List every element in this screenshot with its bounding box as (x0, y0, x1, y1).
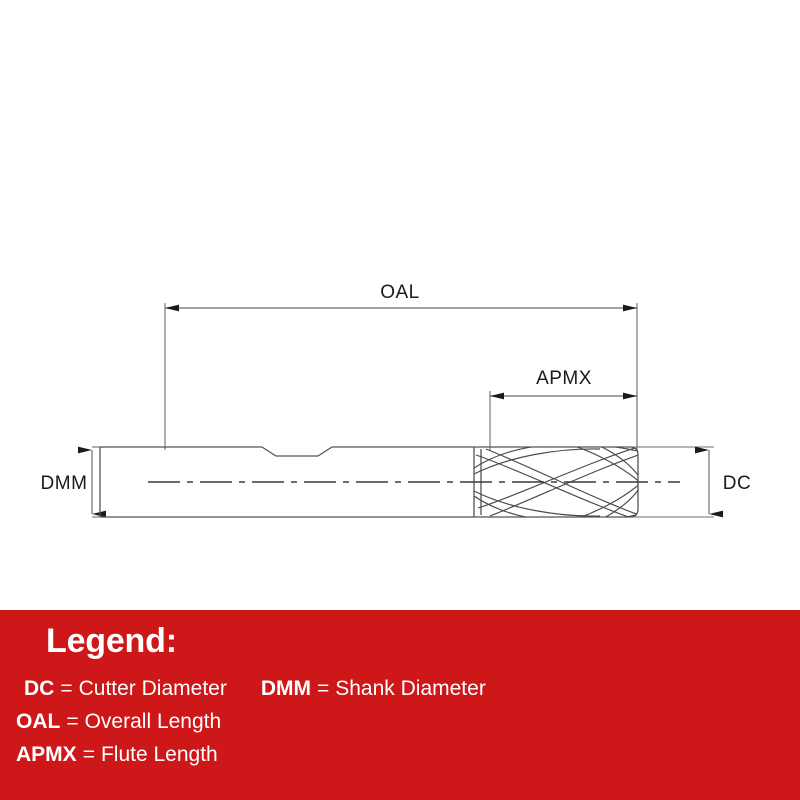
legend-description-apmx: Flute Length (101, 743, 218, 767)
legend-description-dmm: Shank Diameter (335, 677, 486, 701)
label-dmm: DMM (41, 473, 88, 494)
page-root: OAL APMX DMM DC Legend: DC = Cutter Diam… (0, 0, 800, 800)
extension-lines (92, 303, 714, 517)
technical-drawing-area: OAL APMX DMM DC (0, 0, 800, 610)
flute-helix-1 (476, 455, 646, 523)
flute-land-2 (474, 491, 600, 516)
legend-equals-oal: = (60, 710, 84, 734)
end-mill-drawing-svg: OAL APMX DMM DC (0, 0, 800, 610)
legend-code-dmm: DMM (261, 677, 311, 701)
legend-entry-dmm: DMM = Shank Diameter (261, 677, 486, 701)
label-oal: OAL (380, 282, 420, 303)
legend-code-dc: DC (24, 677, 54, 701)
legend-entry-dc: DC = Cutter Diameter (24, 677, 227, 701)
legend-description-oal: Overall Length (85, 710, 222, 734)
legend-entries-list: DC = Cutter Diameter DMM = Shank Diamete… (16, 677, 786, 776)
legend-row-1: DC = Cutter Diameter DMM = Shank Diamete… (16, 677, 786, 710)
legend-code-apmx: APMX (16, 743, 77, 767)
legend-band: Legend: DC = Cutter Diameter DMM = Shank… (0, 610, 800, 800)
legend-code-oal: OAL (16, 710, 60, 734)
legend-row-2: OAL = Overall Length (16, 710, 786, 743)
dimension-lines (92, 308, 709, 514)
legend-equals-dc: = (54, 677, 78, 701)
body-bottom-profile (100, 509, 638, 517)
label-dc: DC (723, 473, 751, 494)
legend-entry-apmx: APMX = Flute Length (16, 743, 218, 767)
legend-equals-apmx: = (77, 743, 101, 767)
legend-description-dc: Cutter Diameter (79, 677, 227, 701)
legend-equals-dmm: = (311, 677, 335, 701)
legend-entry-oal: OAL = Overall Length (16, 710, 221, 734)
legend-title: Legend: (46, 622, 177, 661)
label-apmx: APMX (536, 368, 592, 389)
dimension-labels: OAL APMX DMM DC (41, 282, 752, 494)
legend-row-3: APMX = Flute Length (16, 743, 786, 776)
